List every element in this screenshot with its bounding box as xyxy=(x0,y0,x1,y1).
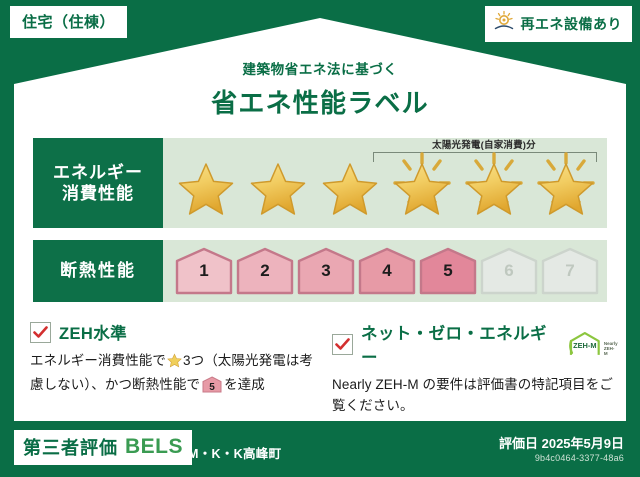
insulation-scale: 1234567 xyxy=(175,247,599,295)
claim-zeh-text-stars: 3つ（太陽光発電 xyxy=(183,353,286,368)
star-solar xyxy=(459,150,529,216)
insulation-house-value: 4 xyxy=(358,261,416,281)
energy-row-label: エネルギー 消費性能 xyxy=(33,138,163,228)
evaluation-date: 評価日 2025年5月9日 xyxy=(499,433,624,452)
claim-zeh-body: エネルギー消費性能で 3つ（太陽光発電は考慮しない）、かつ断熱性能で 5を達成 xyxy=(30,351,316,396)
check-icon xyxy=(335,338,350,351)
energy-row-body: 太陽光発電(自家消費)分 xyxy=(163,138,607,228)
claims-section: ZEH水準 エネルギー消費性能で 3つ（太陽光発電は考慮しない）、かつ断熱性能で… xyxy=(30,320,618,417)
checkbox-zeh-standard[interactable] xyxy=(30,322,51,343)
star-rating xyxy=(171,150,601,216)
star-base xyxy=(315,150,385,216)
title-subtitle: 建築物省エネ法に基づく xyxy=(0,58,640,78)
insulation-house-value: 3 xyxy=(297,261,355,281)
star-base xyxy=(243,150,313,216)
star-solar xyxy=(387,150,457,216)
insulation-house-value: 7 xyxy=(541,261,599,281)
star-solar xyxy=(531,150,601,216)
insulation-row-label: 断熱性能 xyxy=(33,240,163,302)
bels-jp-label: 第三者評価 xyxy=(23,434,118,460)
energy-performance-label: 住宅（住棟） 再エネ設備あり 建築物省エネ法に基づく 省エネ性能ラベル xyxy=(0,0,640,477)
zeh-m-logo-sub: Nearly ZEH-M xyxy=(604,342,618,357)
insulation-house-value: 6 xyxy=(480,261,538,281)
inline-star-icon xyxy=(167,353,182,375)
footer-bar: 第三者評価 BELS M・K・K高峰町 評価日 2025年5月9日 9b4c04… xyxy=(0,421,640,477)
renewable-equipment-badge: 再エネ設備あり xyxy=(485,6,633,42)
zeh-m-house-icon: ZEH-M xyxy=(568,331,602,357)
claim-zeh-title: ZEH水準 xyxy=(59,320,127,344)
zeh-m-logo: ZEH-M Nearly ZEH-M xyxy=(568,331,618,357)
insulation-row-body: 1234567 xyxy=(163,240,607,302)
insulation-house-inactive: 7 xyxy=(541,247,599,295)
building-type-tag: 住宅（住棟） xyxy=(10,6,127,38)
solar-sun-icon xyxy=(493,10,515,37)
inline-house-value: 5 xyxy=(202,380,222,396)
claim-zeh-header: ZEH水準 xyxy=(30,320,316,344)
insulation-house-active: 5 xyxy=(419,247,477,295)
energy-performance-row: エネルギー 消費性能 太陽光発電(自家消費)分 xyxy=(33,138,607,228)
insulation-house-active: 3 xyxy=(297,247,355,295)
insulation-house-active: 4 xyxy=(358,247,416,295)
star-base xyxy=(171,150,241,216)
bels-en-label: BELS xyxy=(125,435,183,459)
claim-nze-header: ネット・ゼロ・エネルギー ZEH-M Nearly ZEH-M xyxy=(332,320,618,368)
check-icon xyxy=(33,326,48,339)
energy-label-line2: 消費性能 xyxy=(62,183,134,204)
claim-zeh-standard: ZEH水準 エネルギー消費性能で 3つ（太陽光発電は考慮しない）、かつ断熱性能で… xyxy=(30,320,316,417)
claim-zeh-text3: を達成 xyxy=(224,377,265,392)
title-block: 建築物省エネ法に基づく 省エネ性能ラベル xyxy=(0,58,640,120)
insulation-label-text: 断熱性能 xyxy=(60,260,136,281)
evaluation-id: 9b4c0464-3377-48a6 xyxy=(535,453,624,463)
claim-zeh-text1: エネルギー消費性能で xyxy=(30,353,166,368)
claim-nze-title: ネット・ゼロ・エネルギー xyxy=(361,320,556,368)
checkbox-net-zero-energy[interactable] xyxy=(332,334,353,355)
svg-text:ZEH-M: ZEH-M xyxy=(573,341,596,350)
insulation-house-value: 5 xyxy=(419,261,477,281)
claim-nze-body: Nearly ZEH-M の要件は評価書の特記項目をご覧ください。 xyxy=(332,375,618,417)
claim-net-zero-energy: ネット・ゼロ・エネルギー ZEH-M Nearly ZEH-M Nearly Z… xyxy=(332,320,618,417)
insulation-house-value: 2 xyxy=(236,261,294,281)
zeh-m-sub-line2: ZEH-M xyxy=(604,346,615,356)
project-name: M・K・K高峰町 xyxy=(188,443,281,462)
insulation-house-active: 2 xyxy=(236,247,294,295)
energy-label-line1: エネルギー xyxy=(53,162,143,183)
insulation-house-active: 1 xyxy=(175,247,233,295)
insulation-performance-row: 断熱性能 1234567 xyxy=(33,240,607,302)
solar-annotation-label: 太陽光発電(自家消費)分 xyxy=(368,137,600,151)
renewable-badge-label: 再エネ設備あり xyxy=(521,14,623,34)
insulation-house-inactive: 6 xyxy=(480,247,538,295)
insulation-house-value: 1 xyxy=(175,261,233,281)
inline-house-badge: 5 xyxy=(202,376,222,393)
bels-badge: 第三者評価 BELS xyxy=(14,430,192,465)
page-title: 省エネ性能ラベル xyxy=(0,83,640,120)
